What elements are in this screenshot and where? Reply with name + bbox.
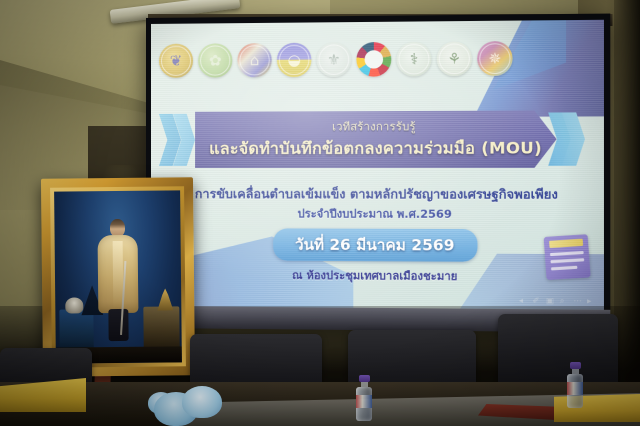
portrait-table-right	[143, 306, 179, 348]
community-development-logo: ◒	[277, 43, 312, 78]
event-date-badge: วันที่ 26 มีนาคม 2569	[273, 228, 478, 261]
flower-petal	[182, 386, 222, 418]
bottle-label	[356, 395, 372, 408]
zoom-button[interactable]: ⌕	[560, 297, 568, 305]
water-bottle-center	[356, 375, 372, 421]
sdg-wheel-logo	[356, 42, 391, 77]
ministry-interior-glyph: ⌂	[250, 53, 260, 68]
green-emblem-glyph: ✿	[209, 53, 222, 68]
green-emblem-logo: ✿	[198, 43, 232, 77]
presenter-control-bar[interactable]: ◂ ✐ ▣ ⌕ ⋯ ▸	[519, 297, 596, 306]
portrait-table-left	[59, 309, 93, 349]
bottle-body	[567, 374, 583, 408]
portrait-urn	[65, 297, 83, 313]
next-slide-button[interactable]: ▸	[587, 297, 595, 305]
silver-garuda-logo: ⚜	[317, 42, 352, 77]
slide-title-line-2: และจัดทำบันทึกข้อตกลงความร่วมมือ (MOU)	[209, 136, 542, 162]
agriculture-glyph: ⚘	[447, 51, 461, 66]
silver-garuda-glyph: ⚜	[327, 52, 341, 67]
event-venue-text: ณ ห้องประชุมเทศบาลเมืองชะมาย	[151, 265, 604, 286]
chevron-right-decoration	[548, 112, 592, 165]
public-health-glyph: ⚕	[410, 51, 418, 66]
public-health-logo: ⚕	[396, 42, 431, 77]
agriculture-logo: ⚘	[437, 41, 472, 76]
previous-slide-button[interactable]: ◂	[519, 297, 527, 305]
royal-portrait	[41, 177, 195, 377]
portrait-legs	[108, 308, 128, 340]
organization-logo-row: ❦ ✿ ⌂ ◒ ⚜	[159, 41, 513, 78]
slide-title-banner: เวทีสร้างการรับรู้ และจัดทำบันทึกข้อตกลง…	[195, 110, 557, 168]
ministry-interior-logo: ⌂	[237, 43, 271, 77]
slide-subtitle-fiscal-year: ประจำปีงบประมาณ พ.ศ.2569	[151, 204, 604, 223]
banner-body: เวทีสร้างการรับรู้ และจัดทำบันทึกข้อตกลง…	[195, 110, 557, 168]
portrait-ornament-right	[157, 288, 173, 310]
presentation-slide: ❦ ✿ ⌂ ◒ ⚜	[151, 20, 604, 310]
portrait-robe	[98, 234, 139, 312]
projection-screen: ❦ ✿ ⌂ ◒ ⚜	[146, 14, 610, 333]
all-slides-button[interactable]: ▣	[546, 297, 554, 305]
bottle-cap	[570, 362, 581, 369]
portrait-figure	[96, 218, 139, 338]
bottle-cap	[359, 375, 370, 382]
sufficiency-economy-logo: ✵	[477, 41, 512, 76]
slide-title-line-1: เวทีสร้างการรับรู้	[332, 117, 416, 135]
water-bottle-right	[567, 362, 583, 408]
bottle-label	[567, 382, 583, 395]
sufficiency-economy-glyph: ✵	[488, 51, 501, 66]
slide-subtitle-primary: การขับเคลื่อนตำบลเข้มแข็ง ตามหลักปรัชญาข…	[151, 184, 604, 205]
bottle-body	[356, 387, 372, 421]
provincial-seal-logo: ❦	[159, 44, 193, 78]
more-options-button[interactable]: ⋯	[573, 297, 581, 305]
conference-room-scene: ❦ ✿ ⌂ ◒ ⚜	[0, 0, 640, 426]
pen-tool-button[interactable]: ✐	[532, 297, 540, 305]
provincial-seal-glyph: ❦	[170, 53, 183, 68]
document-badge-icon	[544, 234, 591, 280]
community-development-glyph: ◒	[287, 52, 300, 67]
flower-arrangement	[148, 378, 240, 426]
portrait-image	[54, 190, 182, 363]
